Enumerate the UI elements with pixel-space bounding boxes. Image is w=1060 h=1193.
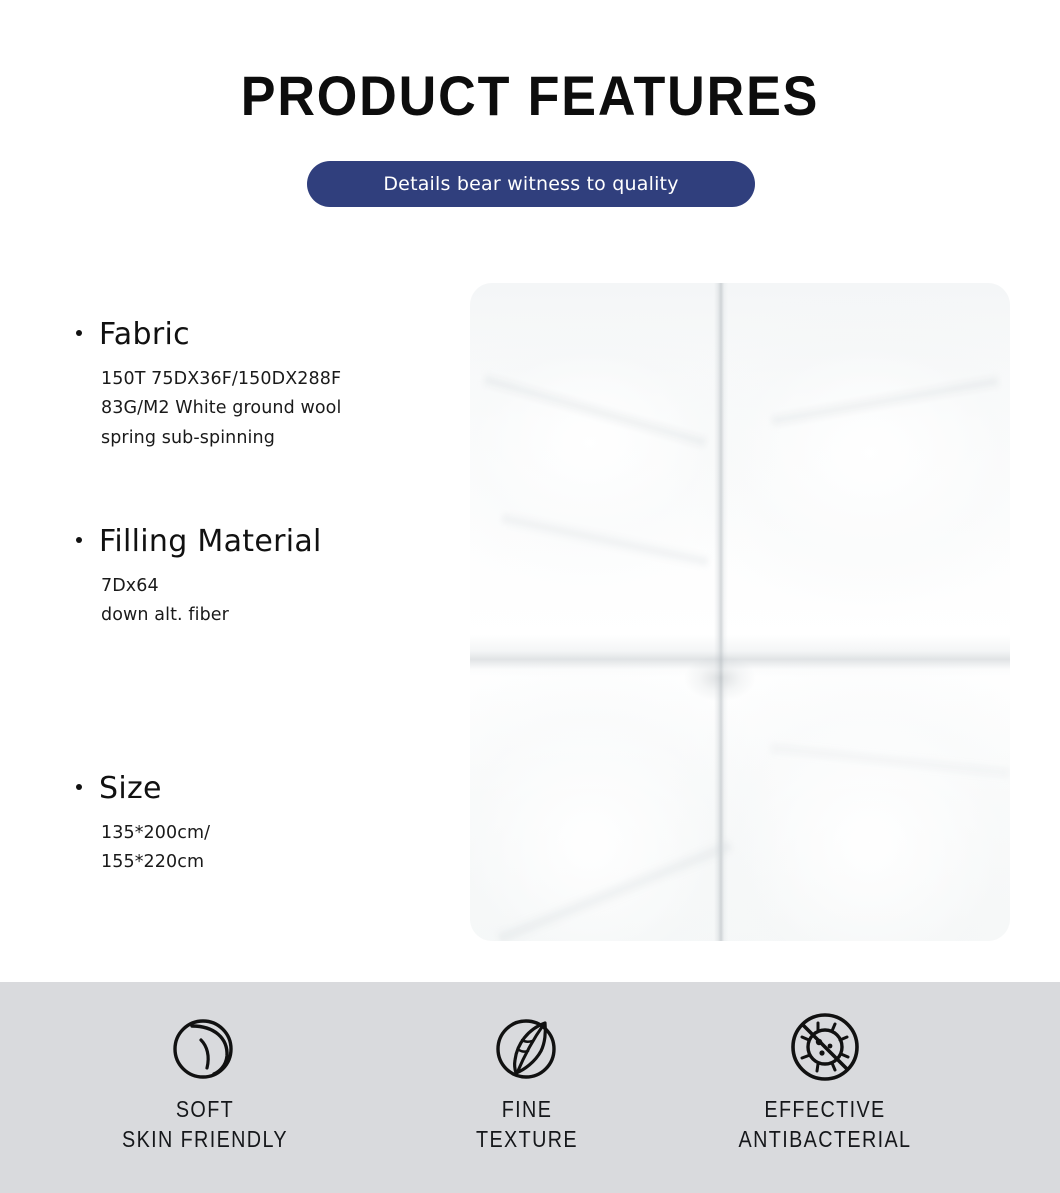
antibacterial-no-germ-icon <box>790 1012 860 1082</box>
feature-list: Fabric 150T 75DX36F/150DX288F 83G/M2 Whi… <box>0 0 440 980</box>
benefit-item-fine-texture: FINE TEXTURE <box>362 982 692 1155</box>
fine-texture-quill-circle-icon <box>492 1012 562 1082</box>
feature-item-size: Size 135*200cm/ 155*220cm <box>76 772 436 878</box>
product-image-canvas <box>470 283 1010 941</box>
benefit-label: SOFT SKIN FRIENDLY <box>63 1094 347 1155</box>
soft-feather-circle-icon <box>170 1012 240 1082</box>
bullet-icon <box>76 330 82 336</box>
feature-description: 135*200cm/ 155*220cm <box>101 819 436 878</box>
quilt-horizontal-seam <box>470 635 1010 677</box>
feature-heading-label: Filling Material <box>99 525 322 558</box>
feature-item-filling-material: Filling Material 7Dx64 down alt. fiber <box>76 525 436 631</box>
feature-description: 150T 75DX36F/150DX288F 83G/M2 White grou… <box>101 365 436 453</box>
bullet-icon <box>76 784 82 790</box>
feature-description: 7Dx64 down alt. fiber <box>101 572 436 631</box>
feature-item-fabric: Fabric 150T 75DX36F/150DX288F 83G/M2 Whi… <box>76 318 436 453</box>
bullet-icon <box>76 537 82 543</box>
feature-heading-label: Fabric <box>99 318 190 351</box>
product-image <box>470 283 1010 941</box>
feature-heading: Fabric <box>76 318 436 351</box>
benefits-strip: SOFT SKIN FRIENDLY FINE TEXTURE <box>0 982 1060 1193</box>
feature-heading: Filling Material <box>76 525 436 558</box>
feature-heading: Size <box>76 772 436 805</box>
benefit-label: FINE TEXTURE <box>385 1094 669 1155</box>
feature-heading-label: Size <box>99 772 162 805</box>
benefit-item-soft-skin-friendly: SOFT SKIN FRIENDLY <box>40 982 370 1155</box>
benefit-label: EFFECTIVE ANTIBACTERIAL <box>683 1094 967 1155</box>
benefit-item-effective-antibacterial: EFFECTIVE ANTIBACTERIAL <box>660 982 990 1155</box>
